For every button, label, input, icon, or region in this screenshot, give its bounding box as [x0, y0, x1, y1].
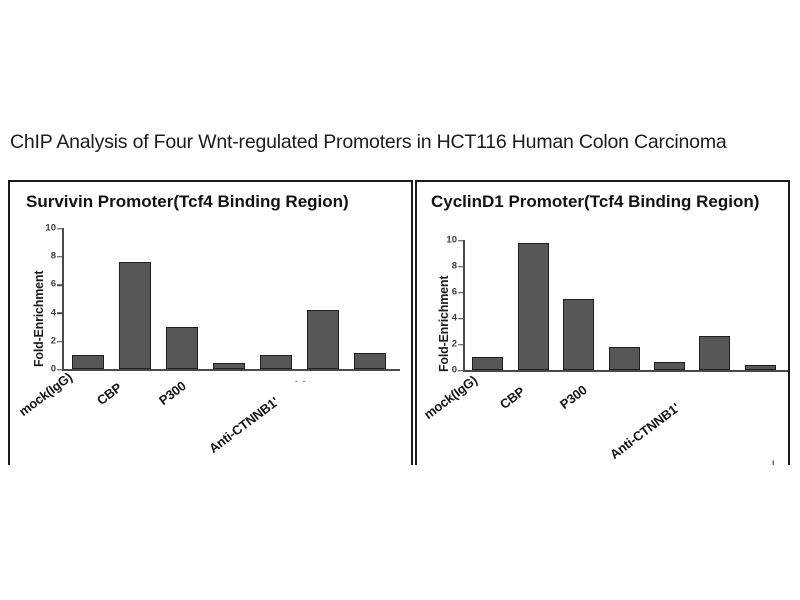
- bar: [518, 243, 549, 370]
- x-axis-label: CBP: [497, 384, 527, 412]
- panel-title-survivin: Survivin Promoter(Tcf4 Binding Region): [26, 192, 349, 212]
- bar: [166, 327, 198, 369]
- bar: [472, 357, 503, 370]
- y-axis-tick: 4: [437, 313, 457, 323]
- axis-tick-artifact-cyclind1: I: [772, 459, 776, 465]
- y-axis-tick: 2: [36, 336, 56, 346]
- bar: [354, 353, 386, 369]
- bar: [745, 365, 776, 370]
- plot-area-cyclind1: [463, 240, 781, 372]
- panel-title-cyclind1: CyclinD1 Promoter(Tcf4 Binding Region): [431, 192, 759, 212]
- y-axis-tick: 0: [36, 364, 56, 374]
- plot-area-survivin: [62, 228, 392, 371]
- x-axis-label: Anti-CTNNB1': [206, 394, 281, 456]
- bar: [213, 363, 245, 369]
- bar: [72, 355, 104, 369]
- x-axis-label: Anti-CTNNB1': [607, 400, 682, 462]
- bar-group-survivin: [64, 228, 392, 369]
- y-axis-tick: 10: [437, 235, 457, 245]
- bar: [307, 310, 339, 369]
- bar: [654, 362, 685, 370]
- y-axis-tick: 4: [36, 308, 56, 318]
- x-axis-label: mock(IgG): [16, 369, 75, 419]
- axis-tick-artifact-survivin: - -: [295, 376, 307, 386]
- y-axis-tick: 8: [36, 251, 56, 261]
- bar: [699, 336, 730, 370]
- y-axis-tick: 0: [437, 365, 457, 375]
- x-axis-label: mock(IgG): [421, 372, 480, 422]
- x-axis-line-survivin: [62, 369, 400, 371]
- y-axis-tick: 6: [36, 280, 56, 290]
- bar: [563, 299, 594, 371]
- y-axis-tick: 10: [36, 223, 56, 233]
- x-axis-line-cyclind1: [463, 370, 789, 372]
- y-axis-tick: 8: [437, 261, 457, 271]
- x-axis-label: P300: [156, 378, 189, 408]
- y-axis-tick: 6: [437, 287, 457, 297]
- chart-panel-cyclind1: CyclinD1 Promoter(Tcf4 Binding Region) F…: [415, 180, 790, 465]
- bar: [609, 347, 640, 370]
- x-axis-label: CBP: [94, 380, 124, 408]
- bar: [260, 355, 292, 369]
- bar: [119, 262, 151, 369]
- figure-title: ChIP Analysis of Four Wnt-regulated Prom…: [10, 131, 800, 154]
- y-axis-tick: 2: [437, 339, 457, 349]
- x-axis-label: P300: [557, 382, 590, 412]
- bar-group-cyclind1: [465, 240, 781, 370]
- chart-panel-survivin: Survivin Promoter(Tcf4 Binding Region) F…: [8, 180, 413, 465]
